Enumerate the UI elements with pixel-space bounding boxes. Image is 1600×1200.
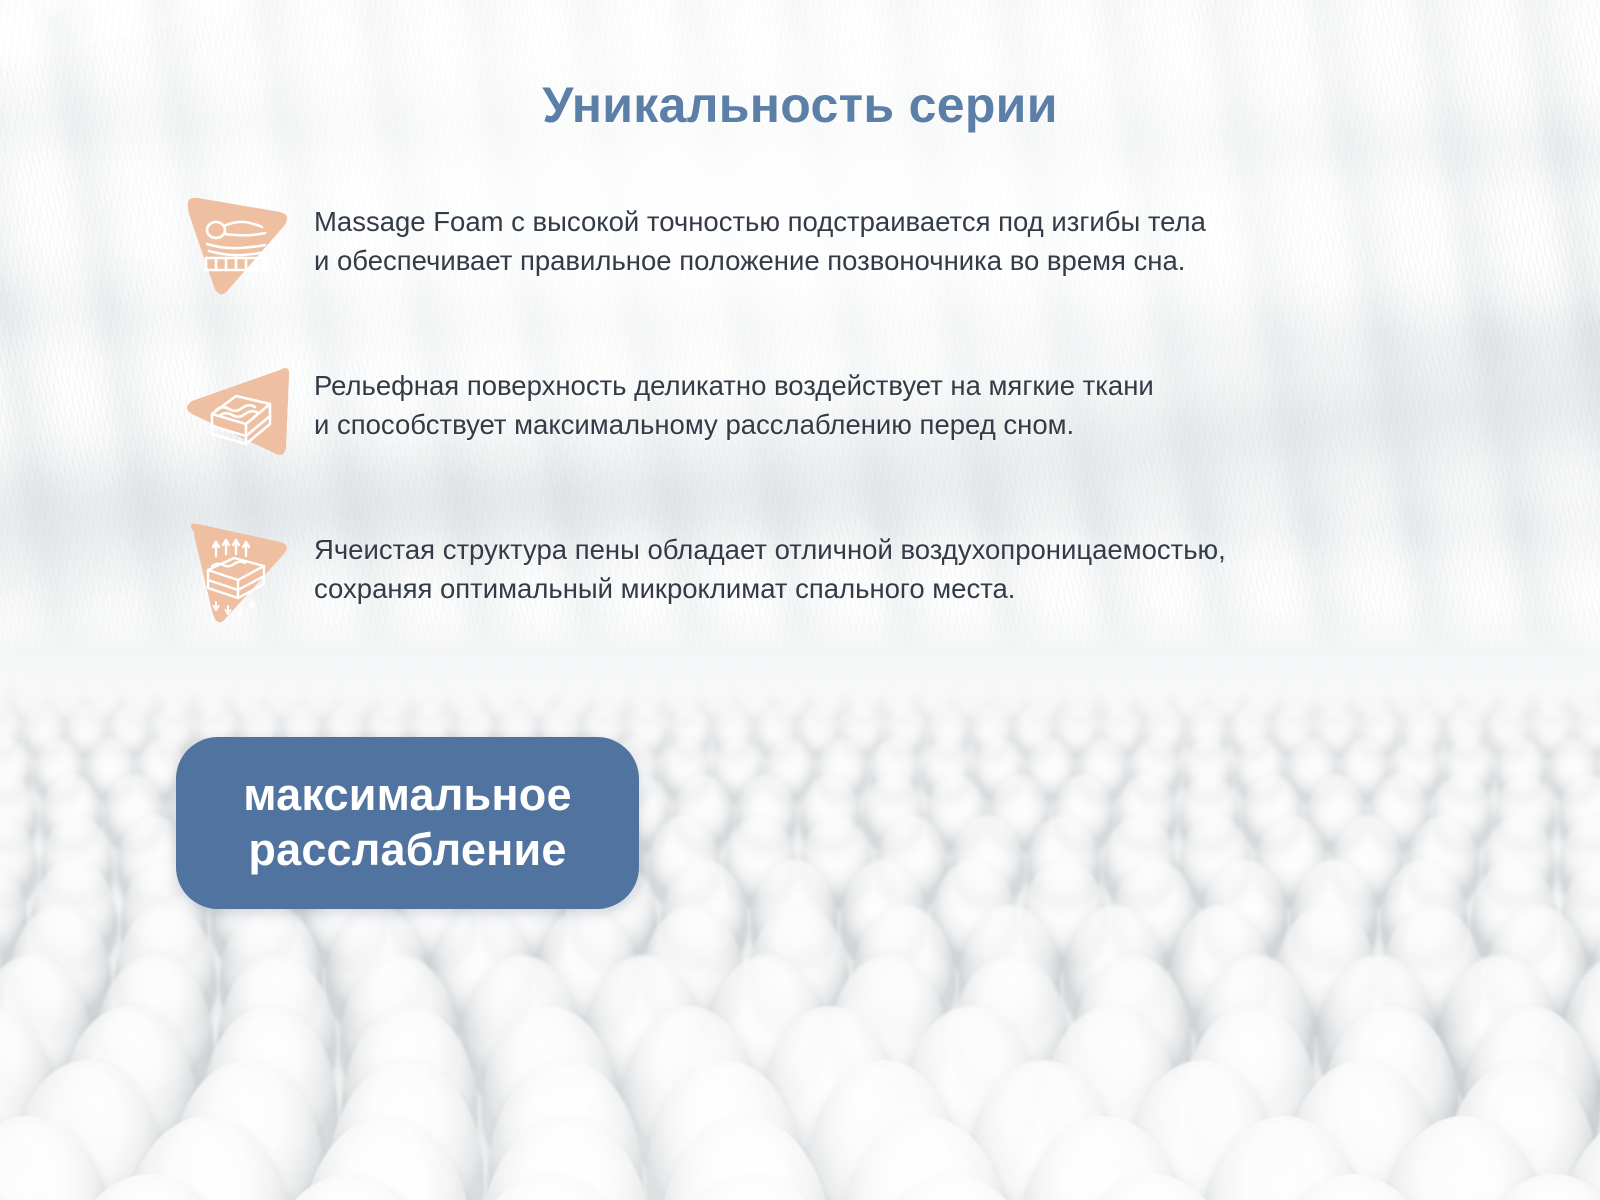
page-title: Уникальность серии [0, 76, 1600, 134]
feature-list: Massage Foam с высокой точностью подстра… [176, 190, 1436, 630]
feature-item-massage-foam: Massage Foam с высокой точностью подстра… [176, 190, 1436, 302]
status-badge-label: максимальное расслабление [243, 768, 571, 878]
person-on-mattress-icon [176, 190, 294, 302]
mattress-airflow-icon [176, 518, 294, 630]
relief-mattress-icon [176, 354, 294, 466]
feature-item-breathability: Ячеистая структура пены обладает отлично… [176, 518, 1436, 630]
feature-text: Massage Foam с высокой точностью подстра… [294, 190, 1206, 280]
slide-content: Уникальность серии [0, 0, 1600, 1200]
status-badge: максимальное расслабление [176, 737, 639, 909]
feature-item-relief-surface: Рельефная поверхность деликатно воздейст… [176, 354, 1436, 466]
infographic-slide: Уникальность серии [0, 0, 1600, 1200]
feature-text: Ячеистая структура пены обладает отлично… [294, 518, 1226, 608]
feature-text: Рельефная поверхность деликатно воздейст… [294, 354, 1154, 444]
